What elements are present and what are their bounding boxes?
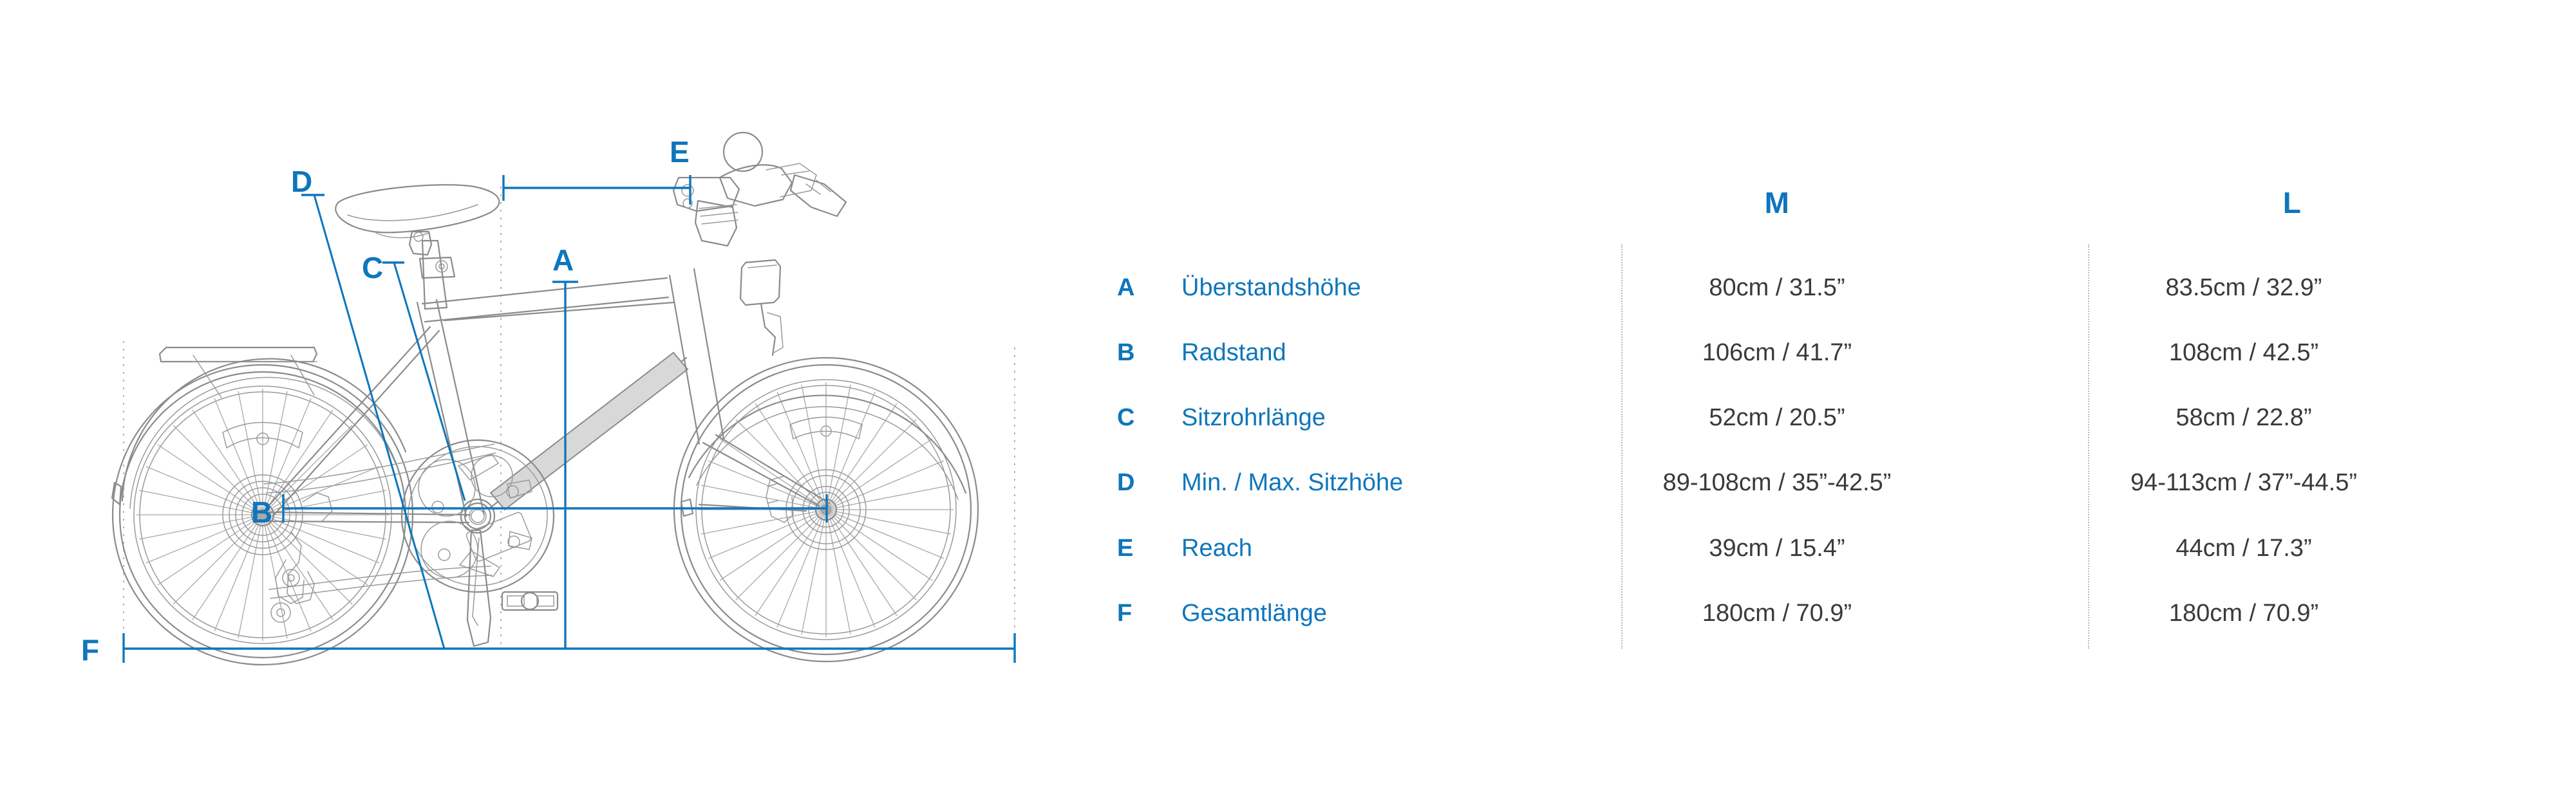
row-key: D: [1117, 463, 1156, 502]
row-value-m: 80cm / 31.5”: [1648, 268, 1906, 307]
row-label: Reach: [1181, 529, 1252, 568]
table-row: E Reach 39cm / 15.4” 44cm / 17.3”: [1095, 529, 2576, 568]
table-row: A Überstandshöhe 80cm / 31.5” 83.5cm / 3…: [1095, 268, 2576, 307]
row-value-m: 39cm / 15.4”: [1648, 529, 1906, 568]
row-value-m: 52cm / 20.5”: [1648, 398, 1906, 437]
front-brake-caliper: [766, 476, 793, 523]
bike-line-art: .ln{fill:none;stroke:#8b8b8b;stroke-widt…: [0, 0, 1095, 805]
kickstand: [473, 538, 479, 625]
row-label: Sitzrohrlänge: [1181, 398, 1326, 437]
headlight: [740, 260, 783, 355]
row-key: E: [1117, 529, 1156, 568]
row-value-l: 58cm / 22.8”: [2115, 398, 2373, 437]
geometry-spec-page: .ln{fill:none;stroke:#8b8b8b;stroke-widt…: [0, 0, 2576, 805]
column-header-m: M: [1713, 185, 1841, 220]
geometry-spec-table: M L A Überstandshöhe 80cm / 31.5” 83.5cm…: [1095, 0, 2576, 805]
row-value-l: 94-113cm / 37”-44.5”: [2115, 463, 2373, 502]
callout-label-B: B: [251, 495, 272, 529]
rear-fender: [122, 359, 406, 501]
table-row: D Min. / Max. Sitzhöhe 89-108cm / 35”-42…: [1095, 463, 2576, 502]
row-value-m: 180cm / 70.9”: [1648, 594, 1906, 633]
row-value-m: 106cm / 41.7”: [1648, 333, 1906, 372]
dimension-B-wheelbase: [283, 494, 827, 523]
row-key: A: [1117, 268, 1156, 307]
row-value-l: 44cm / 17.3”: [2115, 529, 2373, 568]
row-value-l: 180cm / 70.9”: [2115, 594, 2373, 633]
row-value-l: 108cm / 42.5”: [2115, 333, 2373, 372]
dimension-C-seat-tube: [382, 263, 465, 501]
row-key: F: [1117, 594, 1156, 633]
row-label: Radstand: [1181, 333, 1286, 372]
handlebar-stem: [673, 133, 846, 246]
row-key: B: [1117, 333, 1156, 372]
row-value-m: 89-108cm / 35”-42.5”: [1648, 463, 1906, 502]
table-row: C Sitzrohrlänge 52cm / 20.5” 58cm / 22.8…: [1095, 398, 2576, 437]
front-fender-inner: [697, 407, 958, 499]
seatpost: [409, 232, 455, 309]
callout-label-F: F: [81, 633, 99, 667]
bicycle-geometry-diagram: .ln{fill:none;stroke:#8b8b8b;stroke-widt…: [0, 0, 1095, 805]
row-label: Min. / Max. Sitzhöhe: [1181, 463, 1403, 502]
callout-label-E: E: [670, 135, 690, 169]
table-row: B Radstand 106cm / 41.7” 108cm / 42.5”: [1095, 333, 2576, 372]
row-key: C: [1117, 398, 1156, 437]
callout-label-A: A: [552, 243, 574, 277]
callout-label-D: D: [291, 165, 312, 198]
column-header-l: L: [2228, 185, 2356, 220]
callout-label-C: C: [362, 251, 383, 284]
dimension-E-reach: [503, 175, 690, 205]
table-row: F Gesamtlänge 180cm / 70.9” 180cm / 70.9…: [1095, 594, 2576, 633]
row-value-l: 83.5cm / 32.9”: [2115, 268, 2373, 307]
row-label: Überstandshöhe: [1181, 268, 1361, 307]
row-label: Gesamtlänge: [1181, 594, 1327, 633]
saddle: [335, 185, 499, 237]
